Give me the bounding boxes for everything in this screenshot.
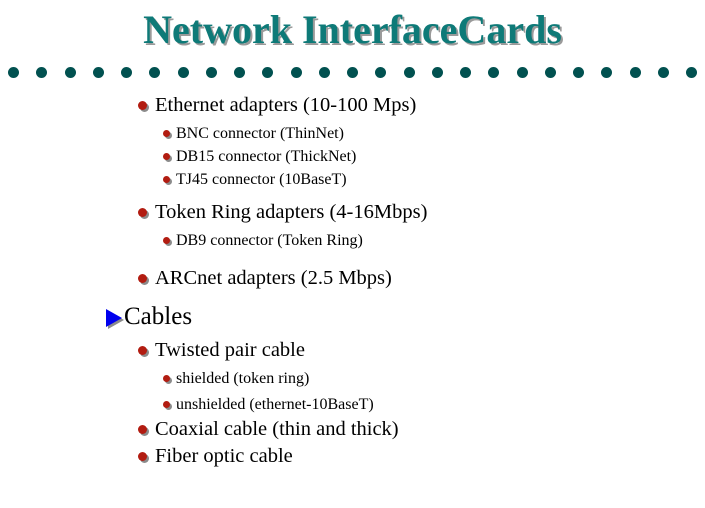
list-item: BNC connector (ThinNet) [0,122,705,145]
list-item-label: unshielded (ethernet-10BaseT) [176,393,374,416]
divider-dot-icon [262,67,273,78]
round-bullet-icon [163,176,170,183]
dot-divider [0,65,705,79]
divider-dot-icon [347,67,358,78]
list-item-label: Token Ring adapters (4-16Mbps) [155,199,427,226]
round-bullet-icon [138,425,147,434]
divider-dot-icon [291,67,302,78]
divider-dot-icon [545,67,556,78]
divider-dot-icon [93,67,104,78]
divider-dot-icon [686,67,697,78]
triangle-bullet-icon [106,309,122,327]
round-bullet-icon [163,130,170,137]
list-item: TJ45 connector (10BaseT) [0,168,705,191]
round-bullet-icon [138,101,147,110]
divider-dot-icon [601,67,612,78]
list-item-label: DB15 connector (ThickNet) [176,145,356,168]
divider-dot-icon [65,67,76,78]
divider-dot-icon [517,67,528,78]
round-bullet-icon [163,237,170,244]
divider-dot-icon [149,67,160,78]
divider-dot-icon [488,67,499,78]
list-item: DB9 connector (Token Ring) [0,229,705,252]
divider-dot-icon [630,67,641,78]
list-item: Coaxial cable (thin and thick) [0,416,705,443]
round-bullet-icon [138,274,147,283]
divider-dot-icon [432,67,443,78]
bullet-list: Ethernet adapters (10-100 Mps)BNC connec… [0,92,705,470]
list-item-label: ARCnet adapters (2.5 Mbps) [155,265,392,292]
list-item: Fiber optic cable [0,443,705,470]
list-item: shielded (token ring) [0,367,705,390]
round-bullet-icon [163,401,170,408]
divider-dot-icon [234,67,245,78]
round-bullet-icon [163,375,170,382]
divider-dot-icon [8,67,19,78]
list-item: Token Ring adapters (4-16Mbps) [0,199,705,226]
list-item: ARCnet adapters (2.5 Mbps) [0,265,705,292]
divider-dot-icon [573,67,584,78]
list-item-label: Twisted pair cable [155,337,305,364]
list-item-label: Coaxial cable (thin and thick) [155,416,399,443]
round-bullet-icon [138,346,147,355]
divider-dot-icon [658,67,669,78]
list-item: Twisted pair cable [0,337,705,364]
divider-dot-icon [460,67,471,78]
list-item-label: DB9 connector (Token Ring) [176,229,363,252]
list-item-label: Fiber optic cable [155,443,293,470]
divider-dot-icon [178,67,189,78]
list-item-label: shielded (token ring) [176,367,309,390]
round-bullet-icon [163,153,170,160]
list-item-label: TJ45 connector (10BaseT) [176,168,347,191]
list-item: DB15 connector (ThickNet) [0,145,705,168]
divider-dot-icon [375,67,386,78]
divider-dot-icon [319,67,330,78]
round-bullet-icon [138,452,147,461]
divider-dot-icon [206,67,217,78]
list-item-label: BNC connector (ThinNet) [176,122,344,145]
list-item-label: Cables [124,300,192,334]
divider-dot-icon [404,67,415,78]
list-item: unshielded (ethernet-10BaseT) [0,393,705,416]
divider-dot-icon [121,67,132,78]
list-item-label: Ethernet adapters (10-100 Mps) [155,92,416,119]
list-item: Ethernet adapters (10-100 Mps) [0,92,705,119]
list-item: Cables [0,300,705,334]
page-title: Network InterfaceCards [0,6,705,54]
divider-dot-icon [36,67,47,78]
round-bullet-icon [138,208,147,217]
